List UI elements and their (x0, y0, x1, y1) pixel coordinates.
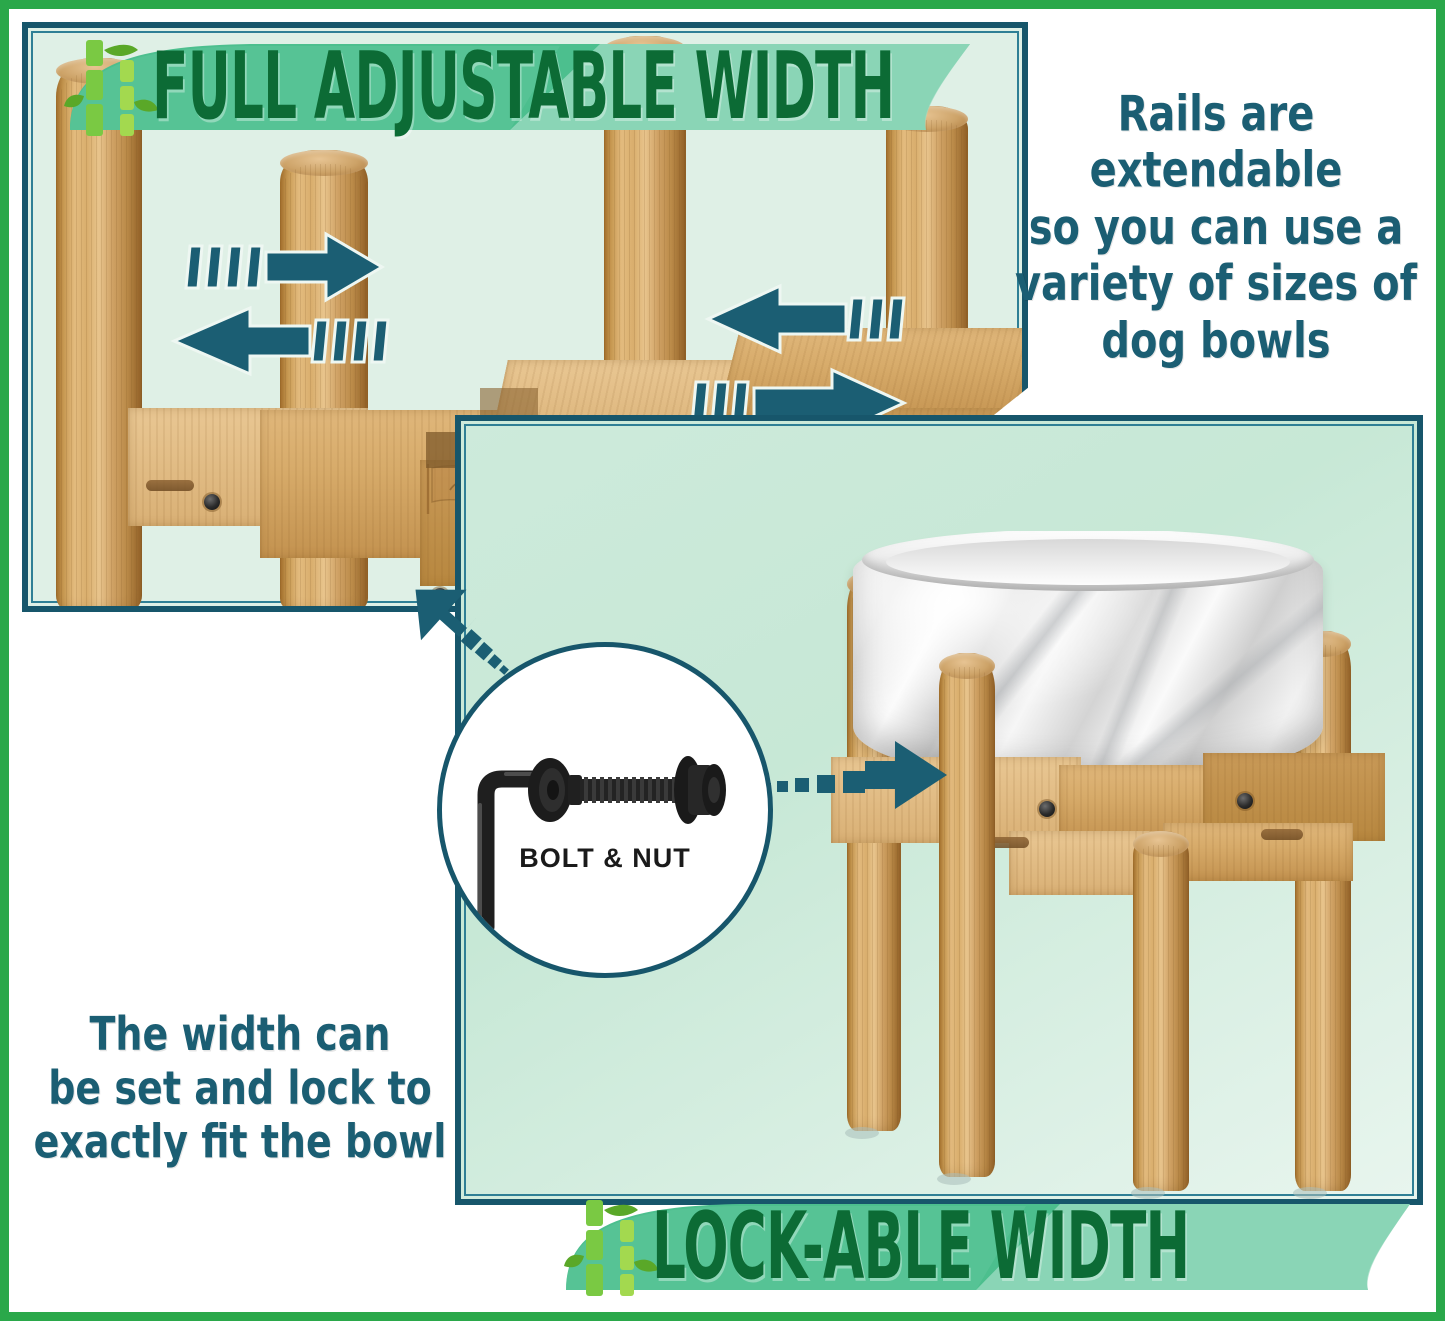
stand-leg-front-center (1133, 831, 1189, 1191)
stand-foot-front-center (1131, 1187, 1165, 1199)
copy-right: Rails are extendable so you can use a va… (1006, 86, 1426, 369)
arrow-dashed-to-bolt (398, 566, 528, 696)
stand-foot-front-left (937, 1173, 971, 1185)
infographic-canvas: BOLT & NUT (0, 0, 1445, 1321)
arrow-right-upper-left (186, 226, 386, 306)
bolt-head-left (204, 494, 220, 510)
copy-left: The width can be set and lock to exactly… (30, 1007, 450, 1168)
photo-bowl-on-stand (771, 531, 1423, 1205)
stand-foot-rear-left (845, 1127, 879, 1139)
stand-leg-front-left (939, 653, 995, 1177)
callout-label: BOLT & NUT (442, 843, 768, 874)
arrow-left-upper-left (170, 300, 390, 380)
stand-rail-lower-rear (1163, 823, 1353, 881)
stand-bolt-right (1237, 793, 1253, 809)
stand-foot-rear-right (1293, 1187, 1327, 1199)
stand-slot-right (1261, 829, 1303, 840)
arrow-dashed-to-stand (761, 739, 951, 829)
bolt-and-nut-icon (526, 751, 732, 829)
bowl-interior (886, 539, 1290, 585)
bamboo-leg-left (56, 58, 142, 612)
arrow-left-upper-right (704, 278, 920, 358)
rail-notch-c (480, 388, 538, 416)
stand-bolt-left (1039, 801, 1055, 817)
rail-adjust-slot-left (146, 480, 194, 491)
